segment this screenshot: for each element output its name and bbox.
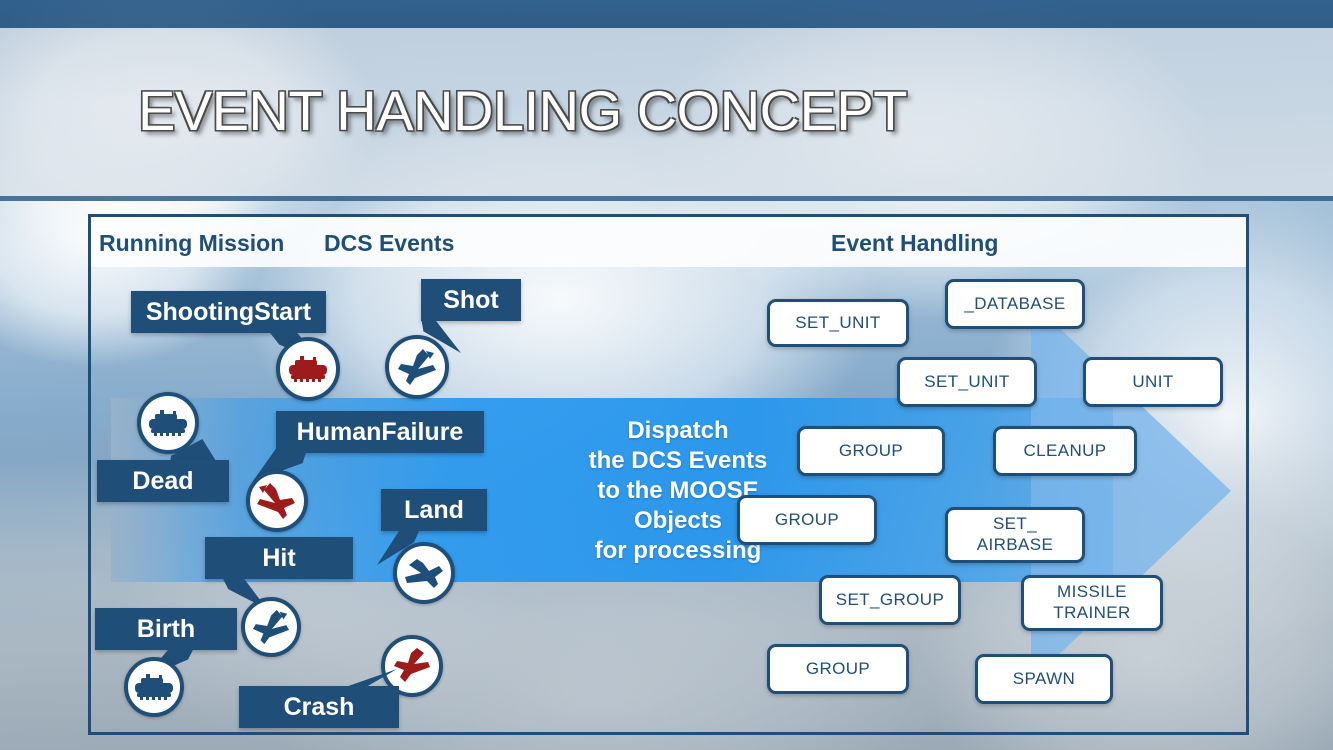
jet-navy-icon (403, 553, 445, 593)
event-bubble-crash[interactable]: Crash (239, 686, 399, 728)
event-label: Crash (284, 693, 355, 722)
class-box-set-airbase[interactable]: SET_ AIRBASE (945, 507, 1085, 563)
class-box-label: SET_UNIT (924, 372, 1009, 393)
jet-red-icon (391, 646, 433, 686)
event-label: ShootingStart (146, 298, 311, 327)
slide-root: EVENT HANDLING CONCEPT Running Mission D… (0, 0, 1333, 750)
event-label: Hit (262, 544, 295, 573)
event-label: Dead (132, 467, 193, 496)
class-box-group-1[interactable]: GROUP (797, 426, 945, 476)
dispatch-line-1: Dispatch (543, 416, 813, 446)
jet-navy-icon (396, 347, 438, 387)
column-title-dcs-events: DCS Events (324, 230, 454, 257)
class-box-set-unit-2[interactable]: SET_UNIT (897, 357, 1037, 407)
class-box-cleanup[interactable]: CLEANUP (993, 426, 1137, 476)
slide-title: EVENT HANDLING CONCEPT (138, 78, 907, 143)
event-icon-circle-birth[interactable] (124, 657, 184, 717)
class-box-label: UNIT (1132, 372, 1173, 393)
jet-navy-icon (251, 608, 291, 646)
column-title-running-mission: Running Mission (99, 230, 284, 257)
class-box-spawn[interactable]: SPAWN (975, 654, 1113, 704)
class-box-missile-trainer[interactable]: MISSILE TRAINER (1021, 575, 1163, 631)
event-icon-circle-shot[interactable] (385, 335, 449, 399)
class-box-label: SET_ AIRBASE (977, 514, 1054, 555)
class-box-set-unit-1[interactable]: SET_UNIT (767, 299, 909, 347)
diagram-panel: Running Mission DCS Events Event Handlin… (88, 214, 1249, 735)
class-box-set-group[interactable]: SET_GROUP (819, 575, 961, 625)
class-box-label: GROUP (839, 441, 903, 462)
class-box-label: MISSILE TRAINER (1053, 582, 1130, 623)
event-label: Shot (443, 286, 499, 315)
event-icon-circle-humanfailure[interactable] (246, 470, 308, 532)
event-bubble-land[interactable]: Land (381, 489, 487, 531)
event-bubble-birth[interactable]: Birth (95, 608, 237, 650)
column-title-event-handling: Event Handling (831, 230, 998, 257)
event-bubble-shootingstart[interactable]: ShootingStart (131, 291, 326, 333)
class-box-label: GROUP (775, 510, 839, 531)
tank-red-icon (287, 355, 329, 383)
tank-navy-icon (133, 673, 175, 701)
tank-navy-icon (147, 409, 189, 437)
class-box-group-2[interactable]: GROUP (737, 495, 877, 545)
dispatch-line-2: the DCS Events (543, 446, 813, 476)
event-bubble-humanfailure[interactable]: HumanFailure (276, 411, 484, 453)
class-box-label: CLEANUP (1023, 441, 1106, 462)
class-box-unit[interactable]: UNIT (1083, 357, 1223, 407)
class-box-label: _DATABASE (964, 294, 1065, 315)
event-label: Land (404, 496, 464, 525)
event-icon-circle-land[interactable] (393, 542, 455, 604)
class-box-label: SPAWN (1013, 669, 1075, 690)
header-band-underline (0, 196, 1333, 201)
event-icon-circle-shootingstart[interactable] (276, 337, 340, 401)
event-label: Birth (137, 615, 195, 644)
event-bubble-hit[interactable]: Hit (205, 537, 353, 579)
event-bubble-dead[interactable]: Dead (97, 460, 229, 502)
class-box-label: SET_GROUP (836, 590, 944, 611)
jet-red-icon (256, 481, 298, 521)
event-icon-circle-hit[interactable] (241, 597, 301, 657)
event-icon-circle-dead[interactable] (137, 392, 199, 454)
event-bubble-shot[interactable]: Shot (421, 279, 521, 321)
class-box-database[interactable]: _DATABASE (945, 279, 1085, 329)
class-box-label: GROUP (806, 659, 870, 680)
class-box-group-3[interactable]: GROUP (767, 644, 909, 694)
header-top-strip (0, 0, 1333, 28)
event-label: HumanFailure (297, 418, 464, 447)
class-box-label: SET_UNIT (795, 313, 880, 334)
